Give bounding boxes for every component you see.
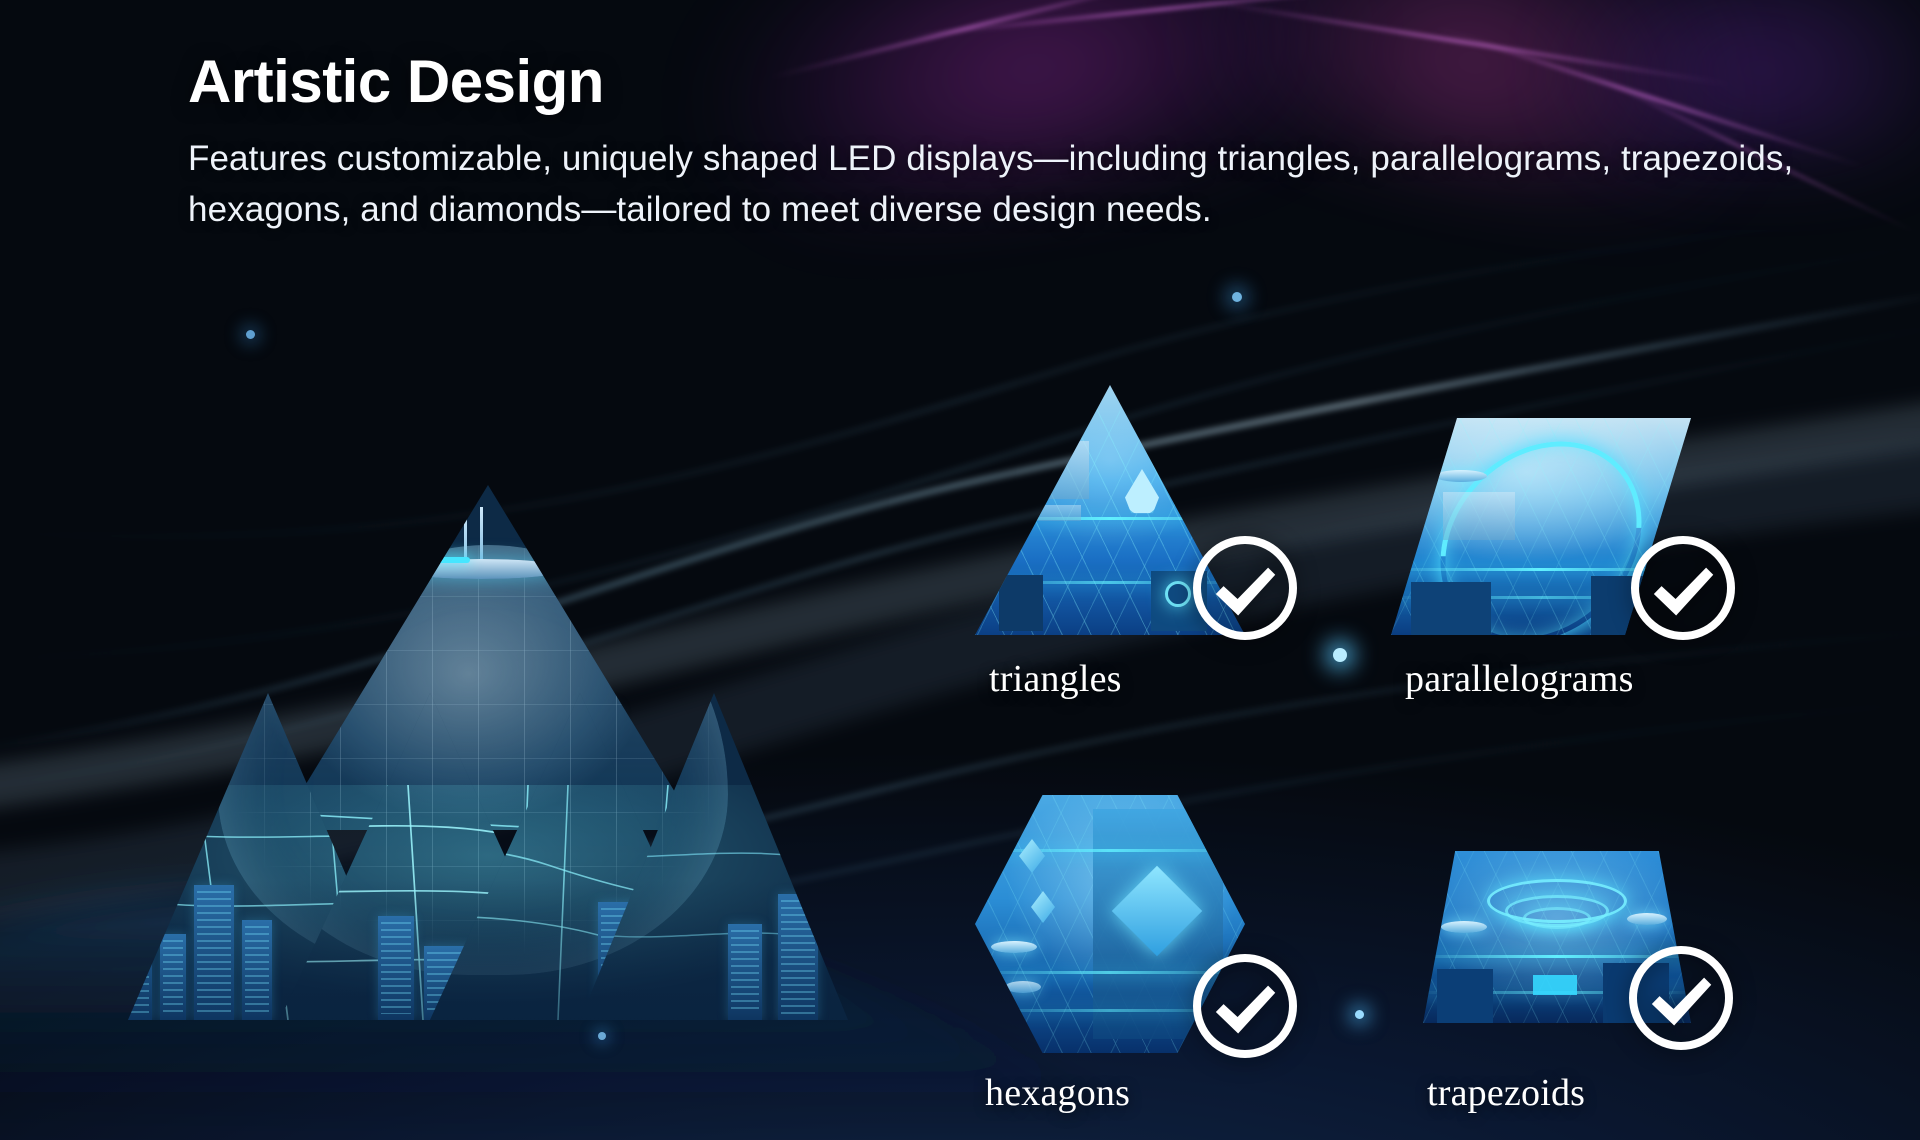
triangular-led-mosaic (128, 485, 848, 1020)
shape-card-grid: triangles parallelograms (975, 385, 1865, 1115)
page-title: Artistic Design (188, 48, 1888, 115)
check-circle-icon (1631, 536, 1735, 640)
mosaic-panel-top (278, 485, 698, 830)
page-subtitle: Features customizable, uniquely shaped L… (188, 133, 1828, 235)
shape-label-trapezoids: trapezoids (1427, 1071, 1585, 1115)
text-block: Artistic Design Features customizable, u… (188, 48, 1888, 235)
shape-label-hexagons: hexagons (985, 1071, 1130, 1115)
slide-canvas: Artistic Design Features customizable, u… (0, 0, 1920, 1140)
shape-label-parallelograms: parallelograms (1405, 657, 1634, 701)
check-circle-icon (1629, 946, 1733, 1050)
check-circle-icon (1193, 536, 1297, 640)
check-circle-icon (1193, 954, 1297, 1058)
shape-label-triangles: triangles (989, 657, 1122, 701)
